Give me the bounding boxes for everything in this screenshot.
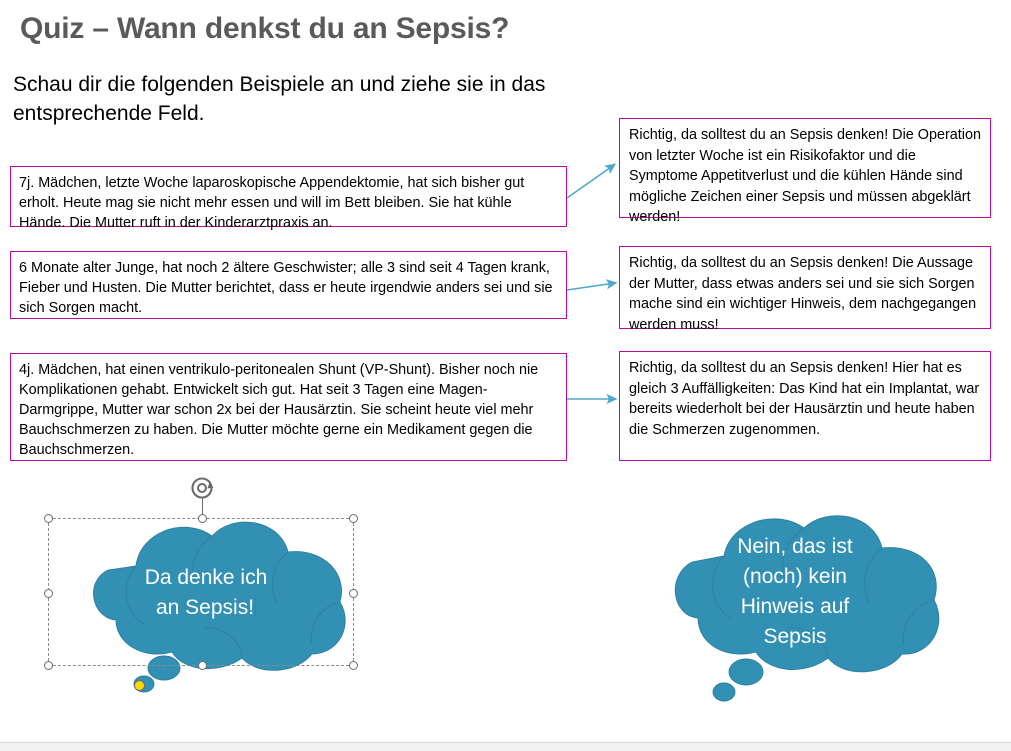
- resize-handle-bottom-right[interactable]: [349, 661, 358, 670]
- resize-handle-top-left[interactable]: [44, 514, 53, 523]
- resize-handle-bottom-left[interactable]: [44, 661, 53, 670]
- shape-adjust-handle[interactable]: [134, 680, 145, 691]
- resize-handle-top-right[interactable]: [349, 514, 358, 523]
- resize-handle-bottom-center[interactable]: [198, 661, 207, 670]
- page-title: Quiz – Wann denkst du an Sepsis?: [20, 12, 920, 46]
- cloud-no-graphic: [628, 506, 958, 706]
- selection-bounding-box[interactable]: [48, 518, 354, 666]
- answer-box-1-text: Richtig, da solltest du an Sepsis denken…: [629, 127, 981, 225]
- rotate-icon[interactable]: [189, 475, 215, 501]
- case-box-2[interactable]: 6 Monate alter Junge, hat noch 2 ältere …: [10, 251, 567, 319]
- case-box-3-text: 4j. Mädchen, hat einen ventrikulo-perito…: [19, 362, 538, 458]
- answer-box-1[interactable]: Richtig, da solltest du an Sepsis denken…: [619, 118, 991, 218]
- answer-box-2[interactable]: Richtig, da solltest du an Sepsis denken…: [619, 246, 991, 329]
- connector-arrow-3: [566, 385, 622, 421]
- resize-handle-middle-left[interactable]: [44, 589, 53, 598]
- connector-arrow-2: [566, 270, 622, 310]
- case-box-3[interactable]: 4j. Mädchen, hat einen ventrikulo-perito…: [10, 353, 567, 461]
- answer-box-3-text: Richtig, da solltest du an Sepsis denken…: [629, 360, 979, 438]
- cloud-shape-no[interactable]: Nein, das ist (noch) kein Hinweis auf Se…: [628, 506, 958, 706]
- resize-handle-middle-right[interactable]: [349, 589, 358, 598]
- connector-arrow-1: [566, 150, 622, 210]
- status-bar: [0, 742, 1011, 751]
- slide-canvas: Quiz – Wann denkst du an Sepsis? Schau d…: [0, 0, 1011, 742]
- answer-box-2-text: Richtig, da solltest du an Sepsis denken…: [629, 255, 976, 333]
- instruction-text: Schau dir die folgenden Beispiele an und…: [13, 70, 673, 128]
- case-box-1-text: 7j. Mädchen, letzte Woche laparoskopisch…: [19, 175, 524, 231]
- case-box-1[interactable]: 7j. Mädchen, letzte Woche laparoskopisch…: [10, 166, 567, 227]
- resize-handle-top-center[interactable]: [198, 514, 207, 523]
- answer-box-3[interactable]: Richtig, da solltest du an Sepsis denken…: [619, 351, 991, 461]
- case-box-2-text: 6 Monate alter Junge, hat noch 2 ältere …: [19, 260, 553, 316]
